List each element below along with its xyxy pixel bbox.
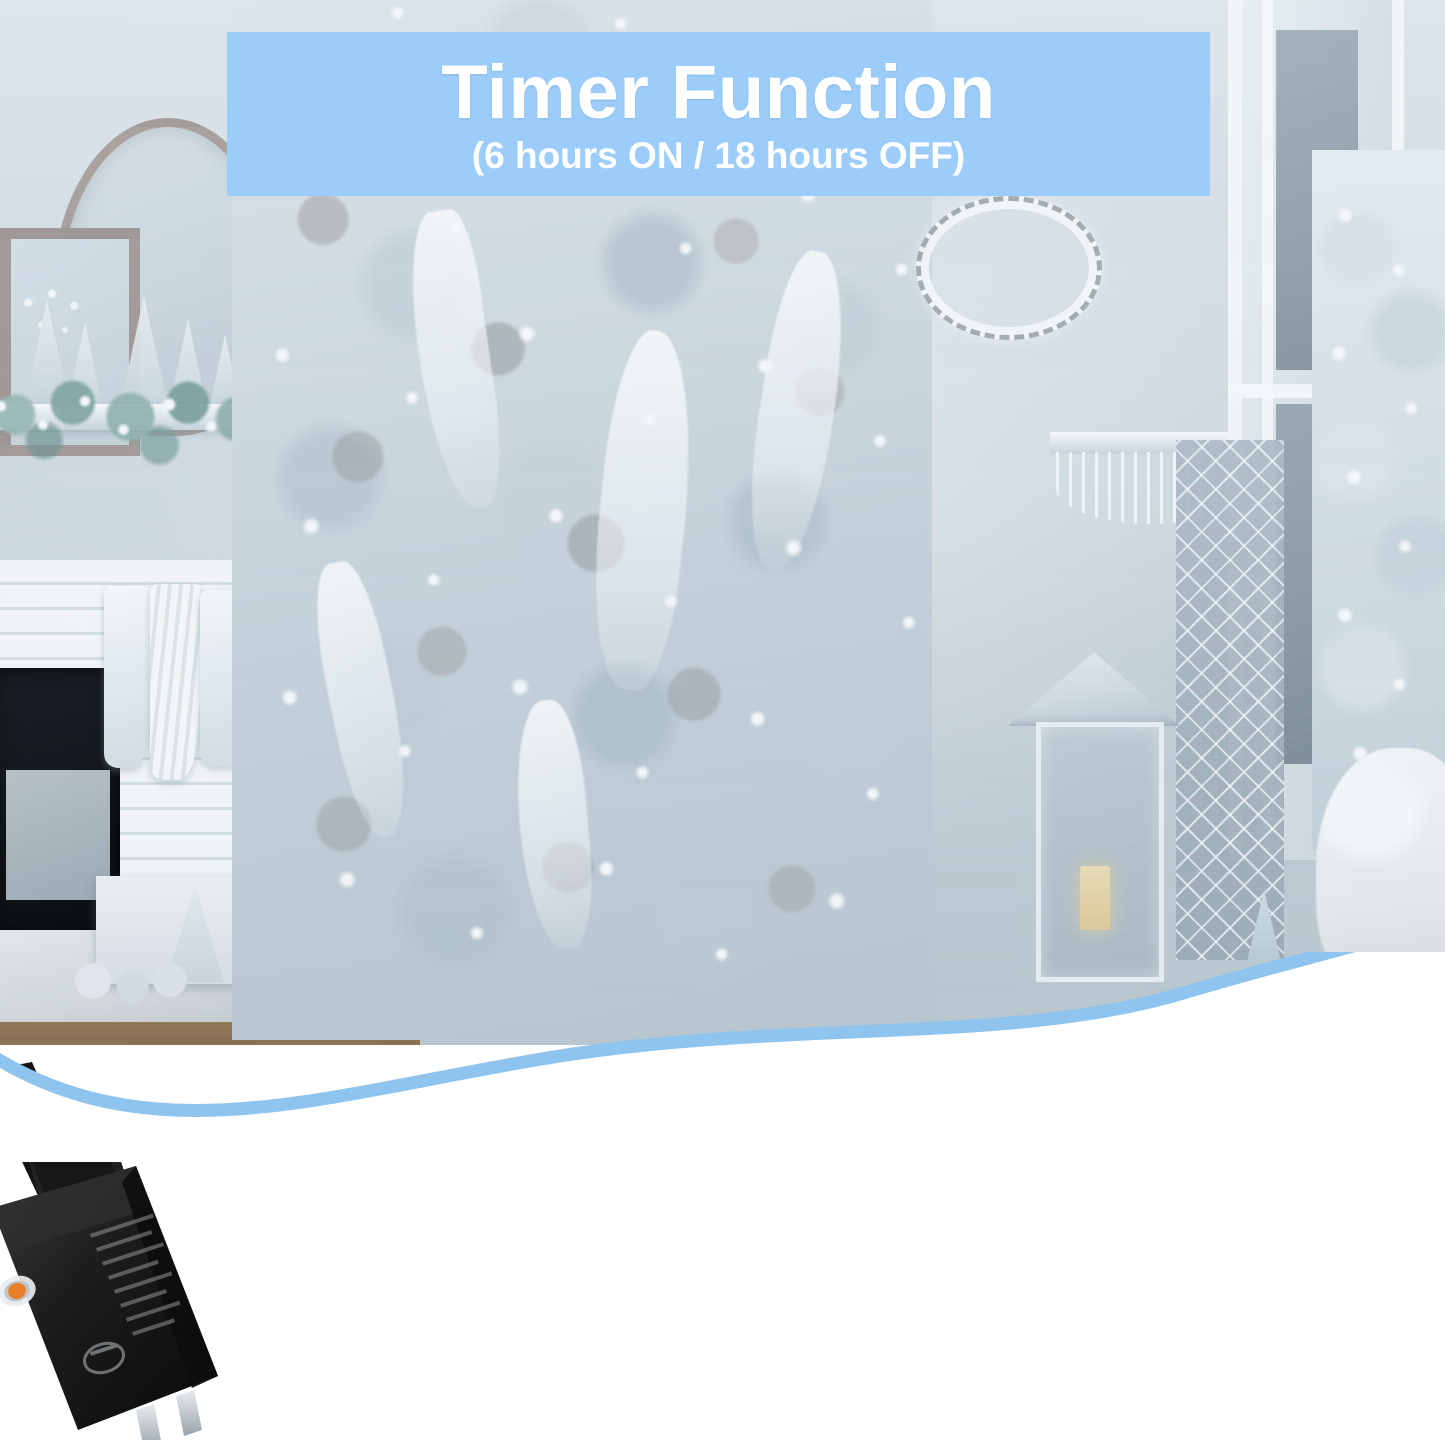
- banner-subtitle: (6 hours ON / 18 hours OFF): [472, 137, 965, 174]
- instructions-section: ⏱ ⏱ Long press the button to green light…: [0, 1040, 1445, 1440]
- product-feature-image: Timer Function (6 hours ON / 18 hours OF…: [0, 0, 1445, 1440]
- adapter-body: [0, 1166, 218, 1430]
- adapter-svg: [0, 1058, 246, 1440]
- power-adapter-illustration: [0, 1058, 246, 1440]
- banner-title: Timer Function: [441, 55, 996, 131]
- header-banner: Timer Function (6 hours ON / 18 hours OF…: [227, 32, 1210, 196]
